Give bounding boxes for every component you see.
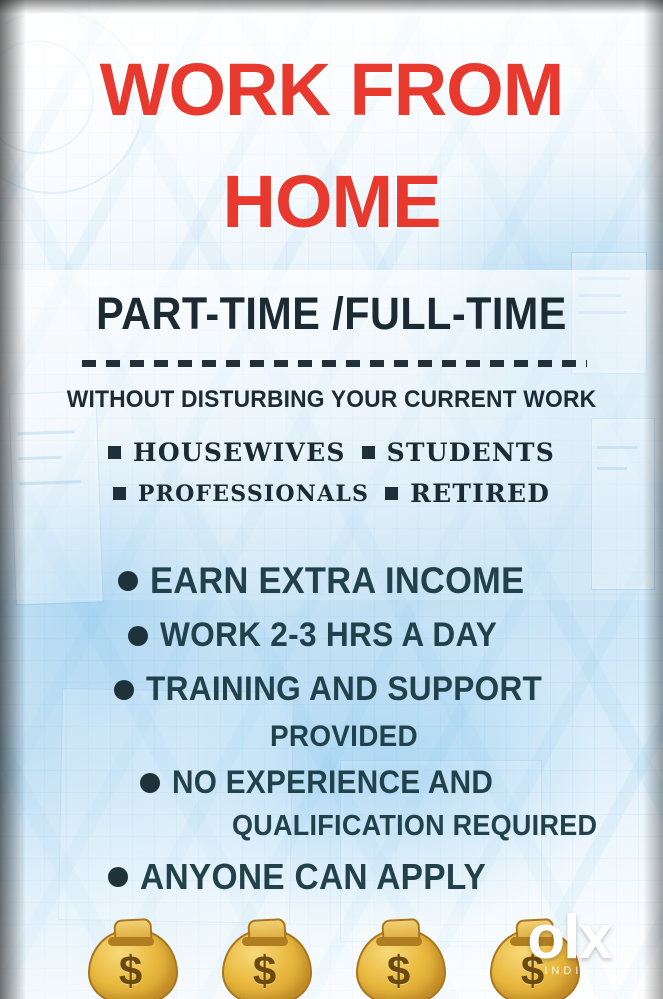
headline-line-1: WORK FROM bbox=[0, 54, 663, 127]
benefit-item-2: WORK 2-3 HRS A DAY bbox=[128, 616, 522, 655]
money-bag-icon: $ bbox=[356, 913, 442, 999]
dashed-divider bbox=[82, 360, 587, 367]
benefit-item-3: TRAINING AND SUPPORT bbox=[114, 670, 572, 709]
square-bullet-icon bbox=[113, 487, 126, 500]
round-bullet-icon bbox=[128, 626, 148, 646]
round-bullet-icon bbox=[114, 680, 134, 700]
benefit-continuation-3: PROVIDED bbox=[270, 720, 418, 754]
audience-item-housewives: HOUSEWIVES bbox=[108, 438, 346, 467]
round-bullet-icon bbox=[140, 773, 160, 793]
poster-image: WORK FROM HOME PART-TIME /FULL-TIME WITH… bbox=[0, 0, 663, 999]
benefit-label-5: ANYONE CAN APPLY bbox=[140, 856, 486, 898]
audience-label-professionals: PROFESSIONALS bbox=[138, 481, 369, 507]
benefit-label-1: EARN EXTRA INCOME bbox=[150, 560, 524, 602]
round-bullet-icon bbox=[108, 867, 128, 887]
dollar-sign-label: $ bbox=[222, 947, 308, 995]
tagline: WITHOUT DISTURBING YOUR CURRENT WORK bbox=[17, 386, 647, 414]
audience-list: HOUSEWIVES STUDENTS PROFESSIONALS RETIRE… bbox=[0, 438, 663, 520]
audience-label-students: STUDENTS bbox=[387, 438, 555, 467]
dollar-sign-label: $ bbox=[88, 947, 174, 995]
benefit-label-4: NO EXPERIENCE AND bbox=[172, 764, 493, 801]
benefit-label-3: TRAINING AND SUPPORT bbox=[146, 670, 542, 709]
olx-brand-ol: ol bbox=[527, 903, 578, 972]
headline-line-2: HOME bbox=[0, 166, 663, 239]
benefit-item-5: ANYONE CAN APPLY bbox=[108, 856, 512, 898]
benefit-item-4: NO EXPERIENCE AND bbox=[140, 764, 517, 801]
olx-brand-subtext: INDIA bbox=[493, 965, 645, 977]
audience-row-1: HOUSEWIVES STUDENTS bbox=[0, 438, 663, 467]
subheadline: PART-TIME /FULL-TIME bbox=[27, 288, 637, 340]
audience-item-students: STUDENTS bbox=[362, 438, 555, 467]
money-bag-icon: $ bbox=[88, 913, 174, 999]
audience-label-retired: RETIRED bbox=[410, 479, 550, 508]
poster-content: WORK FROM HOME PART-TIME /FULL-TIME WITH… bbox=[0, 0, 663, 999]
square-bullet-icon bbox=[108, 446, 121, 459]
benefit-continuation-4: QUALIFICATION REQUIRED bbox=[232, 810, 597, 843]
square-bullet-icon bbox=[362, 446, 375, 459]
audience-row-2: PROFESSIONALS RETIRED bbox=[0, 479, 663, 508]
money-bag-icon: $ bbox=[222, 913, 308, 999]
dollar-sign-label: $ bbox=[356, 947, 442, 995]
round-bullet-icon bbox=[118, 571, 138, 591]
olx-brand-x: x bbox=[578, 903, 610, 972]
benefit-label-2: WORK 2-3 HRS A DAY bbox=[160, 616, 497, 655]
olx-brand-text: olx bbox=[493, 907, 645, 969]
benefit-item-1: EARN EXTRA INCOME bbox=[118, 560, 553, 602]
audience-item-professionals: PROFESSIONALS bbox=[113, 481, 369, 507]
audience-label-housewives: HOUSEWIVES bbox=[133, 438, 346, 467]
audience-item-retired: RETIRED bbox=[385, 479, 550, 508]
square-bullet-icon bbox=[385, 487, 398, 500]
olx-watermark: olx INDIA bbox=[493, 907, 645, 977]
